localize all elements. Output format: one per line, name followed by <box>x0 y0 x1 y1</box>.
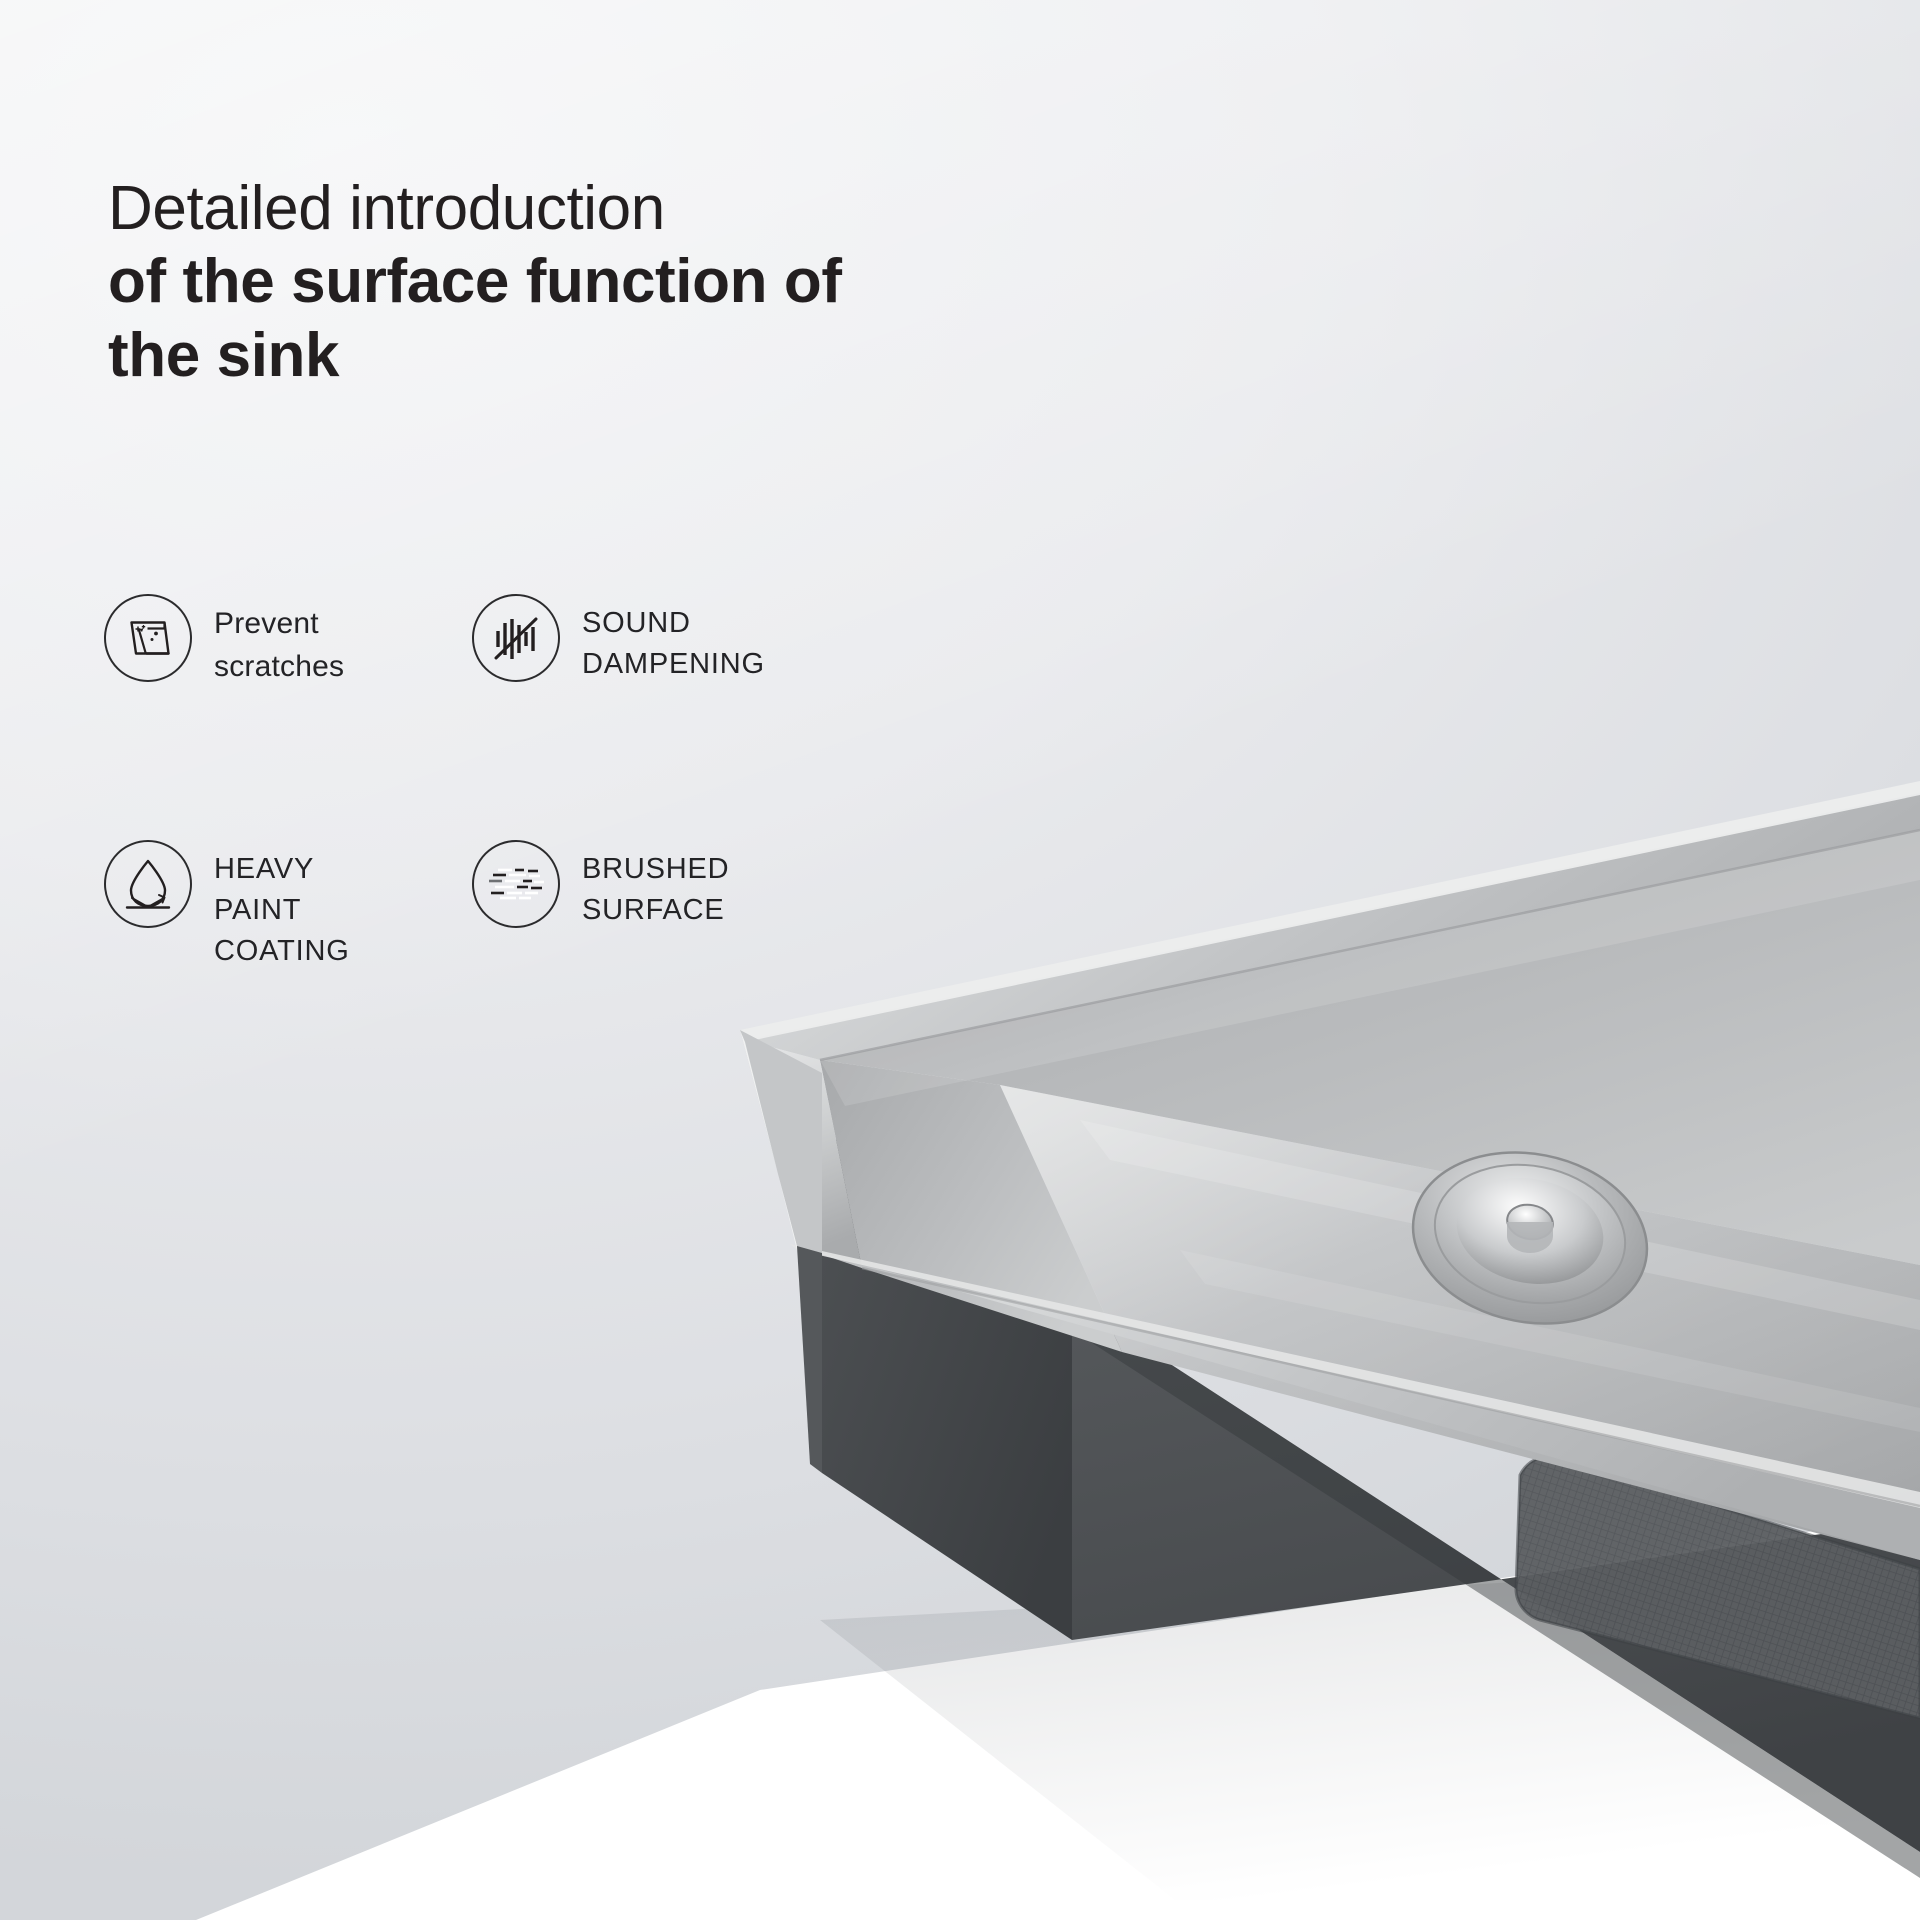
feature-label-line-2: SURFACE <box>582 894 725 926</box>
sound-dampening-icon <box>472 594 560 682</box>
feature-label-line-1: BRUSHED <box>582 853 729 885</box>
title-line-1: Detailed introduction <box>108 172 1068 245</box>
feature-item-heavy-paint-coating: HEAVY PAINT COATING <box>104 840 456 1086</box>
title-line-2: of the surface function of <box>108 245 1068 318</box>
heavy-paint-coating-icon <box>104 840 192 928</box>
feature-grid: Prevent scratches <box>104 594 824 1086</box>
feature-label-line-2: PAINT COATING <box>214 894 350 967</box>
page-title: Detailed introduction of the surface fun… <box>108 172 1068 392</box>
feature-label-line-1: SOUND <box>582 607 691 639</box>
brushed-surface-icon <box>472 840 560 928</box>
product-feature-banner: Detailed introduction of the surface fun… <box>0 0 1920 1920</box>
feature-item-prevent-scratches: Prevent scratches <box>104 594 456 840</box>
feature-label-line-2: scratches <box>214 650 344 683</box>
feature-item-brushed-surface: BRUSHED SURFACE <box>472 840 824 1086</box>
feature-label-heavy-paint-coating: HEAVY PAINT COATING <box>214 840 444 973</box>
feature-item-sound-dampening: SOUND DAMPENING <box>472 594 824 840</box>
feature-label-brushed-surface: BRUSHED SURFACE <box>582 840 729 931</box>
feature-label-line-1: Prevent <box>214 607 319 640</box>
prevent-scratches-icon <box>104 594 192 682</box>
feature-label-line-2: DAMPENING <box>582 648 765 680</box>
title-line-3: the sink <box>108 319 1068 392</box>
feature-label-sound-dampening: SOUND DAMPENING <box>582 594 765 685</box>
feature-label-prevent-scratches: Prevent scratches <box>214 594 344 688</box>
feature-label-line-1: HEAVY <box>214 853 314 885</box>
